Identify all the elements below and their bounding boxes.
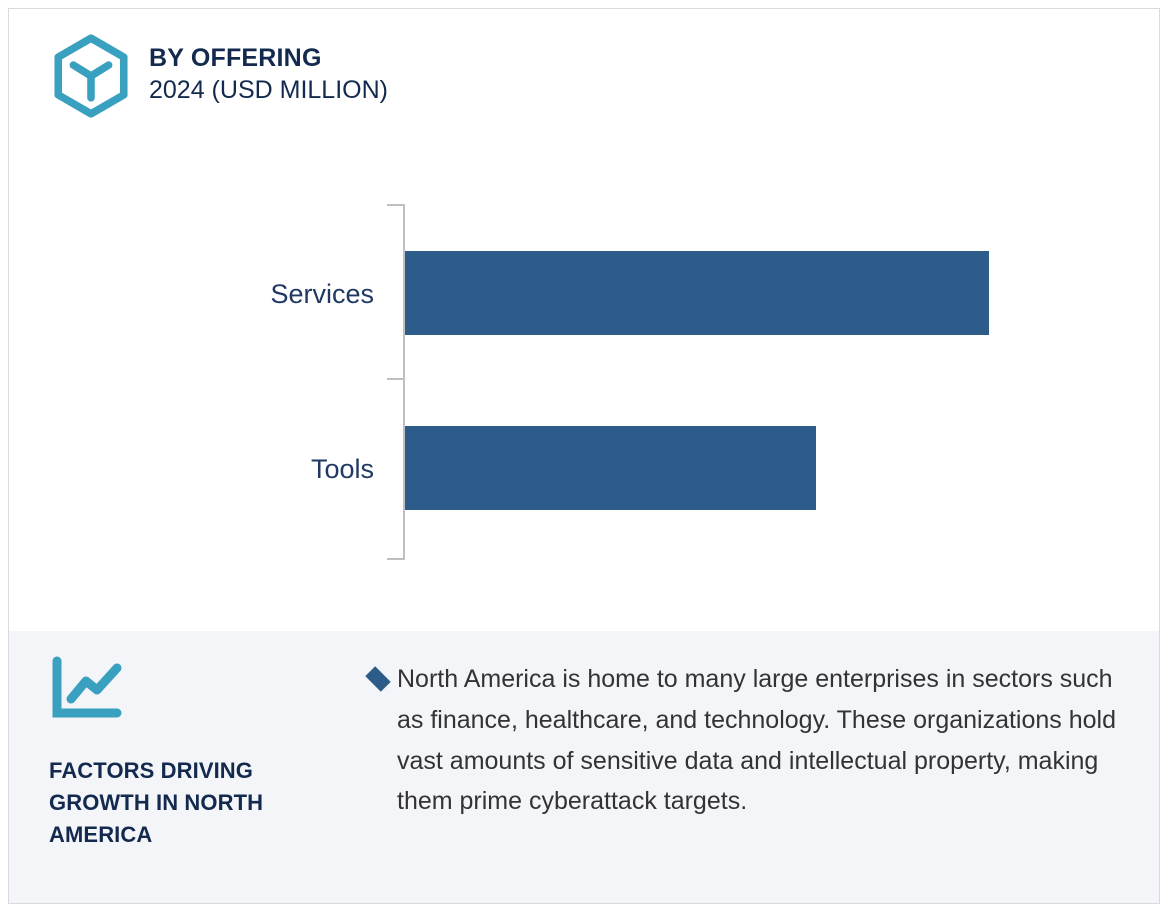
factors-bullet-text: North America is home to many large ente… <box>397 659 1137 822</box>
axis-tick <box>387 204 403 206</box>
factors-heading: FACTORS DRIVING GROWTH IN NORTH AMERICA <box>49 755 339 851</box>
bar-services <box>405 251 989 335</box>
infographic-card: BY OFFERING 2024 (USD MILLION) Services … <box>8 8 1160 904</box>
axis-tick <box>387 378 403 380</box>
bar-chart: Services Tools <box>9 9 1160 629</box>
diamond-bullet-icon <box>365 666 390 691</box>
line-chart-icon <box>49 655 127 721</box>
axis-tick <box>387 558 403 560</box>
factors-bullet-item: North America is home to many large ente… <box>367 659 1137 822</box>
category-label-services: Services <box>44 279 374 310</box>
factors-heading-block: FACTORS DRIVING GROWTH IN NORTH AMERICA <box>49 655 339 851</box>
category-label-tools: Tools <box>44 454 374 485</box>
factors-panel: FACTORS DRIVING GROWTH IN NORTH AMERICA … <box>9 631 1160 903</box>
bar-tools <box>405 426 816 510</box>
